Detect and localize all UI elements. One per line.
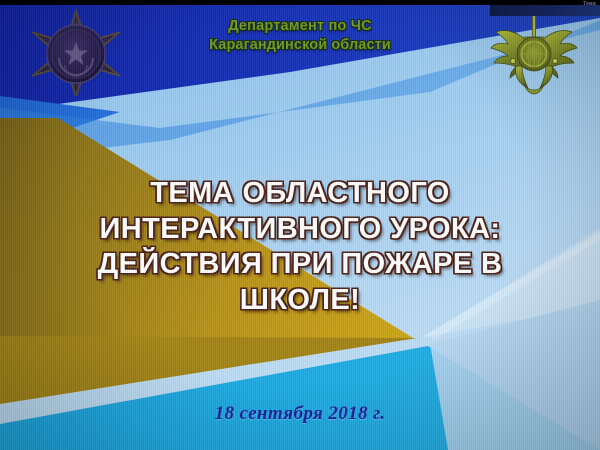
slide-title: ТЕМА ОБЛАСТНОГО ИНТЕРАКТИВНОГО УРОКА: ДЕ… (0, 176, 600, 318)
kazakhstan-wreath-wings-emblem-icon (486, 4, 582, 100)
slide-title-line2: ИНТЕРАКТИВНОГО УРОКА: (0, 212, 600, 248)
emergency-ministry-star-emblem-icon (30, 8, 122, 96)
department-header-line2: Карагандинской области (130, 36, 470, 55)
slide-title-line3: ДЕЙСТВИЯ ПРИ ПОЖАРЕ В (0, 247, 600, 283)
presentation-slide-photo: Департамент по ЧС Карагандинской области… (0, 0, 600, 450)
slide-title-line4: ШКОЛЕ! (0, 283, 600, 319)
department-header: Департамент по ЧС Карагандинской области (130, 17, 470, 55)
slide-title-line1: ТЕМА ОБЛАСТНОГО (0, 176, 600, 212)
adjacent-screen-label: Тема (583, 1, 596, 7)
slide-date: 18 сентября 2018 г. (0, 403, 600, 425)
monitor-bezel-top (0, 0, 600, 5)
department-header-line1: Департамент по ЧС (130, 17, 470, 36)
